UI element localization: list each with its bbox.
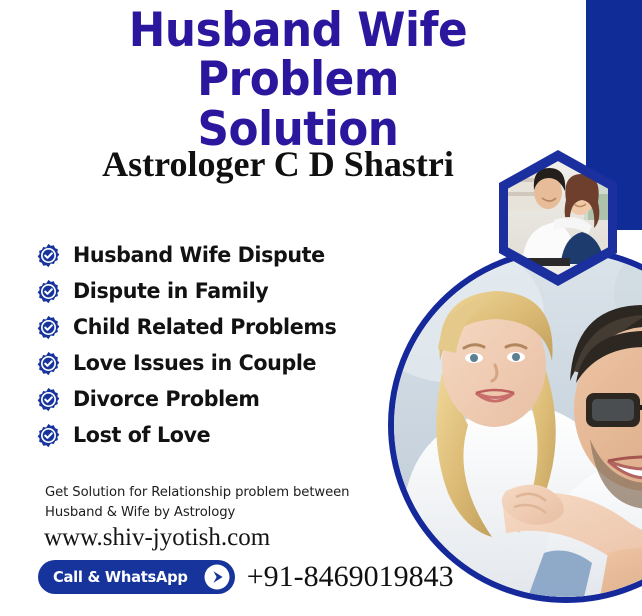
couple-embracing-photo xyxy=(394,253,642,597)
list-item-label: Lost of Love xyxy=(73,423,210,448)
description-line2: Husband & Wife by Astrology xyxy=(45,503,349,523)
services-checklist: Husband Wife Dispute Dispute in Family C… xyxy=(36,238,347,454)
list-item: Divorce Problem xyxy=(36,382,347,417)
website-url[interactable]: www.shiv-jyotish.com xyxy=(44,524,270,552)
list-item: Husband Wife Dispute xyxy=(36,238,347,273)
contact-row: Call & WhatsApp +91-8469019843 xyxy=(38,560,454,594)
call-whatsapp-button[interactable]: Call & WhatsApp xyxy=(38,560,235,594)
check-badge-icon xyxy=(36,279,61,304)
couple-embracing-artwork xyxy=(394,253,642,597)
list-item: Dispute in Family xyxy=(36,274,347,309)
list-item: Lost of Love xyxy=(36,418,347,453)
poster-canvas: Husband Wife Problem Solution Astrologer… xyxy=(0,0,642,616)
check-badge-icon xyxy=(36,243,61,268)
check-badge-icon xyxy=(36,423,61,448)
list-item-label: Divorce Problem xyxy=(73,387,260,412)
check-badge-icon xyxy=(36,351,61,376)
page-title-line1: Husband Wife Problem xyxy=(38,6,559,105)
page-title: Husband Wife Problem Solution xyxy=(38,6,559,154)
list-item-label: Child Related Problems xyxy=(73,315,336,340)
list-item: Love Issues in Couple xyxy=(36,346,347,381)
phone-number[interactable]: +91-8469019843 xyxy=(247,560,454,594)
astrologer-name: Astrologer C D Shastri xyxy=(18,143,538,185)
call-whatsapp-label: Call & WhatsApp xyxy=(53,568,188,586)
circle-photo-frame xyxy=(388,247,642,603)
description-text: Get Solution for Relationship problem be… xyxy=(45,483,349,524)
list-item: Child Related Problems xyxy=(36,310,347,345)
check-badge-icon xyxy=(36,387,61,412)
list-item-label: Husband Wife Dispute xyxy=(73,243,325,268)
list-item-label: Love Issues in Couple xyxy=(73,351,316,376)
list-item-label: Dispute in Family xyxy=(73,279,268,304)
description-line1: Get Solution for Relationship problem be… xyxy=(45,483,349,503)
check-badge-icon xyxy=(36,315,61,340)
play-arrow-icon xyxy=(203,563,231,591)
